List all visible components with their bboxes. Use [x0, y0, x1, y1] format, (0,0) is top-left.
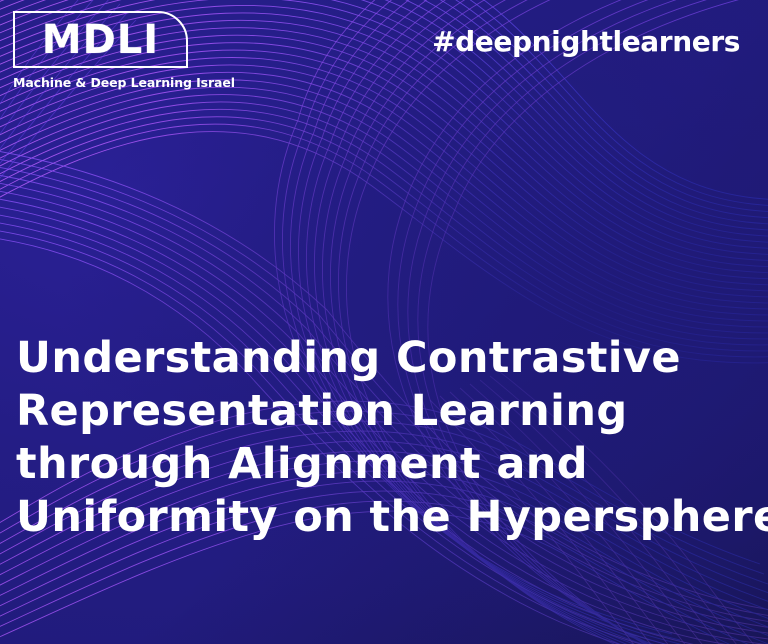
title-line-4: Uniformity on the Hypersphere [16, 491, 756, 544]
logo-frame: MDLI [13, 11, 188, 68]
logo-tagline: Machine & Deep Learning Israel [13, 75, 243, 90]
page-title: Understanding Contrastive Representation… [16, 332, 756, 544]
background-vignette [0, 0, 768, 644]
title-line-1: Understanding Contrastive [16, 332, 756, 385]
flowing-moire-line-waves-artwork [0, 0, 768, 644]
logo-wordmark: MDLI [42, 20, 159, 60]
hashtag-label: #deepnightlearners [432, 25, 740, 58]
title-line-3: through Alignment and [16, 438, 756, 491]
promo-banner: MDLI Machine & Deep Learning Israel #dee… [0, 0, 768, 644]
mdli-logo: MDLI Machine & Deep Learning Israel [13, 11, 243, 90]
title-line-2: Representation Learning [16, 385, 756, 438]
